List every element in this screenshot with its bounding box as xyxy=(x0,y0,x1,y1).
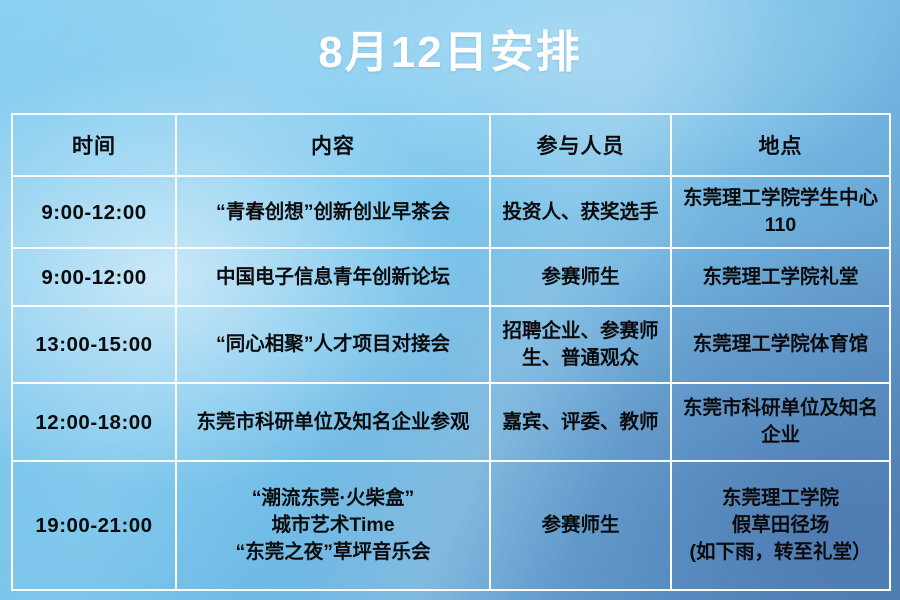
cell-people: 嘉宾、评委、教师 xyxy=(490,383,671,461)
cell-place: 东莞理工学院礼堂 xyxy=(671,248,890,306)
cell-content: “青春创想”创新创业早茶会 xyxy=(176,176,490,248)
schedule-table-body: 9:00-12:00 “青春创想”创新创业早茶会 投资人、获奖选手 东莞理工学院… xyxy=(12,176,890,590)
table-row: 9:00-12:00 中国电子信息青年创新论坛 参赛师生 东莞理工学院礼堂 xyxy=(12,248,890,306)
cell-content: “同心相聚”人才项目对接会 xyxy=(176,306,490,383)
cell-place: 东莞理工学院体育馆 xyxy=(671,306,890,383)
poster-title: 8月12日安排 xyxy=(0,22,900,84)
cell-content: 东莞市科研单位及知名企业参观 xyxy=(176,383,490,461)
cell-people: 参赛师生 xyxy=(490,461,671,590)
cell-people: 招聘企业、参赛师生、普通观众 xyxy=(490,306,671,383)
schedule-table: 时间 内容 参与人员 地点 9:00-12:00 “青春创想”创新创业早茶会 投… xyxy=(11,113,891,591)
cell-time: 9:00-12:00 xyxy=(12,248,176,306)
poster-canvas: 8月12日安排 时间 内容 参与人员 地点 9:00-12:00 xyxy=(0,0,900,600)
column-header-content: 内容 xyxy=(176,114,490,176)
cell-content: “潮流东莞·火柴盒” 城市艺术Time “东莞之夜”草坪音乐会 xyxy=(176,461,490,590)
table-row: 13:00-15:00 “同心相聚”人才项目对接会 招聘企业、参赛师生、普通观众… xyxy=(12,306,890,383)
cell-place: 东莞理工学院 假草田径场 (如下雨，转至礼堂） xyxy=(671,461,890,590)
column-header-people: 参与人员 xyxy=(490,114,671,176)
cell-time: 9:00-12:00 xyxy=(12,176,176,248)
cell-time: 12:00-18:00 xyxy=(12,383,176,461)
column-header-time: 时间 xyxy=(12,114,176,176)
table-row: 12:00-18:00 东莞市科研单位及知名企业参观 嘉宾、评委、教师 东莞市科… xyxy=(12,383,890,461)
cell-people: 参赛师生 xyxy=(490,248,671,306)
schedule-table-container: 时间 内容 参与人员 地点 9:00-12:00 “青春创想”创新创业早茶会 投… xyxy=(11,113,889,579)
table-row: 9:00-12:00 “青春创想”创新创业早茶会 投资人、获奖选手 东莞理工学院… xyxy=(12,176,890,248)
table-row: 19:00-21:00 “潮流东莞·火柴盒” 城市艺术Time “东莞之夜”草坪… xyxy=(12,461,890,590)
cell-time: 19:00-21:00 xyxy=(12,461,176,590)
cell-place: 东莞市科研单位及知名企业 xyxy=(671,383,890,461)
cell-place: 东莞理工学院学生中心110 xyxy=(671,176,890,248)
cell-people: 投资人、获奖选手 xyxy=(490,176,671,248)
cell-content: 中国电子信息青年创新论坛 xyxy=(176,248,490,306)
schedule-table-header: 时间 内容 参与人员 地点 xyxy=(12,114,890,176)
cell-time: 13:00-15:00 xyxy=(12,306,176,383)
column-header-place: 地点 xyxy=(671,114,890,176)
header-row: 时间 内容 参与人员 地点 xyxy=(12,114,890,176)
